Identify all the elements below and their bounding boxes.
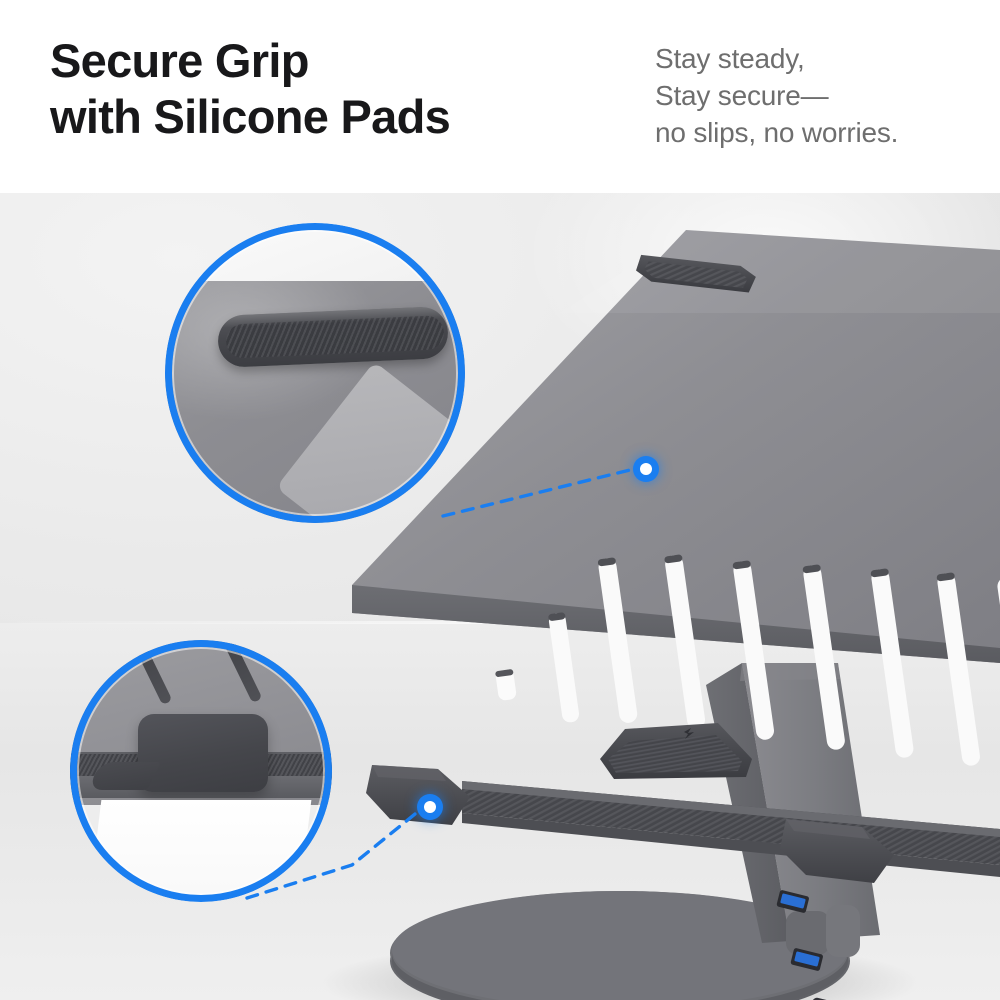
header-band: Secure Grip with Silicone Pads Stay stea… (0, 0, 1000, 193)
header-subcopy: Stay steady, Stay secure— no slips, no w… (655, 40, 898, 152)
callout-white-surface (87, 800, 312, 902)
callout-bottom-content (70, 640, 332, 902)
front-stopper-left (366, 765, 470, 825)
front-stopper-callout[interactable] (70, 640, 332, 902)
callout-top-content (165, 223, 465, 523)
page-title: Secure Grip with Silicone Pads (50, 33, 450, 145)
marker-core (424, 801, 436, 813)
callout-silicone-stopper (138, 714, 268, 792)
product-feature-banner: Secure Grip with Silicone Pads Stay stea… (0, 0, 1000, 1000)
marker-core (640, 463, 652, 475)
callout-top-silicone-pad (217, 306, 449, 368)
front-stopper-marker[interactable] (417, 794, 443, 820)
product-photo (0, 193, 1000, 1000)
silicone-pad-top-callout[interactable] (165, 223, 465, 523)
top-pad-marker[interactable] (633, 456, 659, 482)
